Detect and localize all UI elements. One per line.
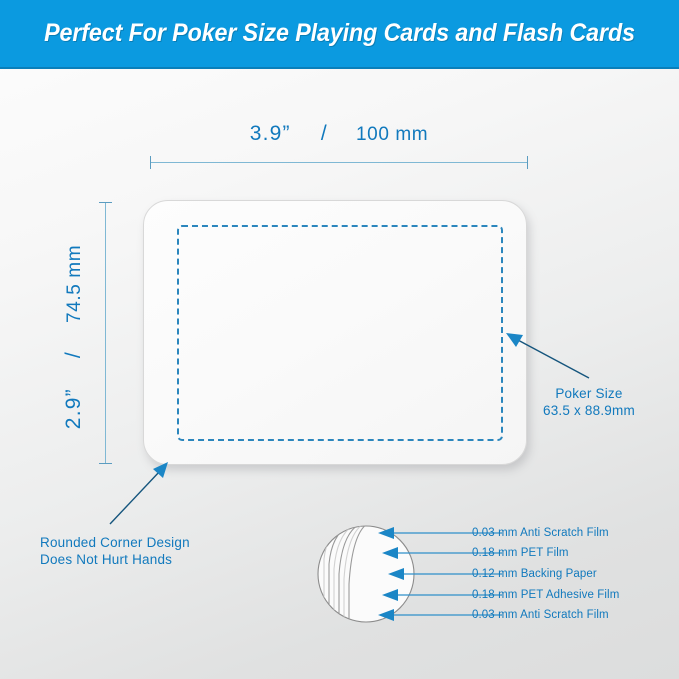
height-inches-value: 2.9” [62,388,85,429]
width-dimension-label: 3.9” / 100 mm [150,122,528,146]
infographic-canvas: Perfect For Poker Size Playing Cards and… [0,0,679,679]
height-dimension-cap-top [99,202,112,203]
poker-size-callout-line2: 63.5 x 88.9mm [543,402,635,419]
width-mm-value: 100 mm [356,124,428,145]
rounded-corner-callout-line1: Rounded Corner Design [40,534,190,551]
layer-label-2: 0.12 mm Backing Paper [472,564,597,585]
poker-size-callout: Poker Size 63.5 x 88.9mm [543,385,635,419]
width-inches-value: 3.9” [250,122,291,145]
layer-cross-section-diagram: 0.03 mm Anti Scratch Film 0.18 mm PET Fi… [312,519,662,631]
width-dimension-cap-right [527,156,528,169]
layer-label-1: 0.18 mm PET Film [472,543,569,564]
layer-label-0: 0.03 mm Anti Scratch Film [472,523,609,544]
width-dimension-line [150,162,528,163]
layer-label-list: 0.03 mm Anti Scratch Film 0.18 mm PET Fi… [472,519,662,631]
rounded-corner-arrow-icon [110,462,168,524]
width-separator: / [321,122,328,145]
height-mm-value: 74.5 mm [64,245,85,323]
width-dimension-cap-left [150,156,151,169]
page-title: Perfect For Poker Size Playing Cards and… [24,0,655,67]
poker-size-dashed-outline [177,225,503,441]
playing-card-illustration [143,200,527,465]
layer-label-3: 0.18 mm PET Adhesive Film [472,585,619,606]
height-dimension-line [105,202,106,464]
header-banner: Perfect For Poker Size Playing Cards and… [0,0,679,69]
rounded-corner-callout: Rounded Corner Design Does Not Hurt Hand… [40,534,190,568]
poker-size-callout-line1: Poker Size [543,385,635,402]
layer-label-4: 0.03 mm Anti Scratch Film [472,605,609,626]
rounded-corner-callout-line2: Does Not Hurt Hands [40,551,190,568]
height-dimension-label: 2.9” / 74.5 mm [62,207,86,467]
height-dimension-cap-bottom [99,463,112,464]
height-separator: / [62,351,85,358]
